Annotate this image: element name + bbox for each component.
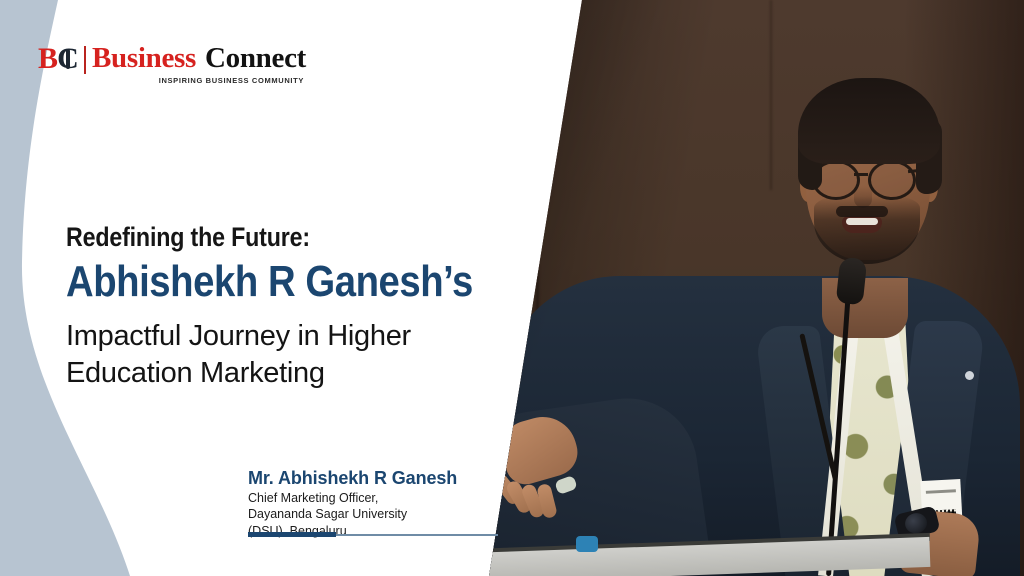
eyeglasses [810,160,928,194]
lapel-pin [965,371,974,380]
headline-subtitle-line-2: Education Marketing [66,355,496,392]
headline-subtitle: Impactful Journey in Higher Education Ma… [66,318,496,392]
neck [822,278,908,338]
business-connect-logo: B C Business Connect INSPIRING BUSINESS … [38,44,306,85]
watch-face [903,511,929,536]
badge-text-line [926,489,956,494]
attribution-block: Mr. Abhishekh R Ganesh Chief Marketing O… [248,468,508,539]
logo-wordmark: Business Connect INSPIRING BUSINESS COMM… [92,44,306,85]
backdrop-seam-secondary [770,0,772,190]
microphone-head [836,257,868,306]
logo-word-connect: Connect [205,44,306,73]
logo-letter-b: B [38,44,57,74]
logo-divider [84,46,86,74]
attribution-role: Chief Marketing Officer, [248,490,508,507]
backdrop-seam [536,0,539,330]
logo-monogram: B C [38,44,92,74]
attribution-organization: Dayananda Sagar University [248,506,508,523]
headline-name: Abhishekh R Ganesh’s [66,257,440,306]
headline-block: Redefining the Future: Abhishekh R Ganes… [66,222,496,393]
cover-graphic: B C Business Connect INSPIRING BUSINESS … [0,0,1024,576]
logo-word-business: Business [92,44,196,73]
teeth [846,218,878,225]
logo-wordmark-line: Business Connect [92,44,306,73]
podium-blue-object [576,536,598,552]
attribution-rule-accent [248,532,336,537]
moustache [836,206,888,217]
headline-kicker: Redefining the Future: [66,222,436,253]
glasses-bridge [854,173,868,176]
logo-tagline: INSPIRING BUSINESS COMMUNITY [92,76,306,85]
lens-right [868,160,916,200]
headline-subtitle-line-1: Impactful Journey in Higher [66,318,496,355]
attribution-name: Mr. Abhishekh R Ganesh [248,468,508,490]
logo-c-bar-icon [66,49,70,69]
mouth [842,216,882,233]
speaker-photo [470,0,1024,576]
logo-letter-c-wrap: C [57,44,79,74]
